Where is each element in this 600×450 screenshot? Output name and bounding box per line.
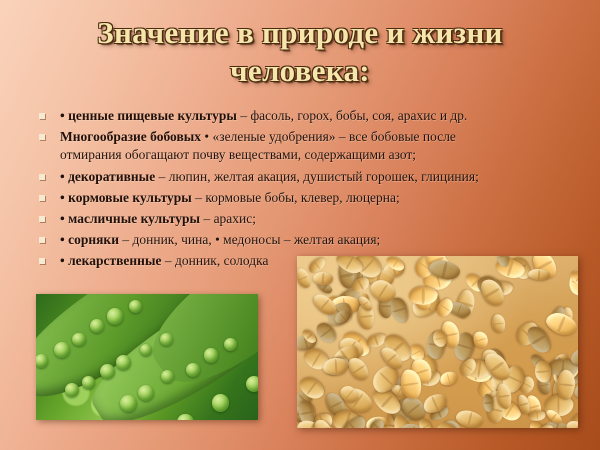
pea-seed <box>246 376 258 392</box>
square-bullet-icon <box>39 216 45 222</box>
pea-seed <box>82 376 95 389</box>
list-item-lead: • ценные пищевые культуры <box>60 108 237 123</box>
list-item-text: • лекарственные – донник, солодка <box>60 253 268 268</box>
pea-seed <box>107 308 124 325</box>
list-item-rest: • «зеленые удобрения» – все бобовые посл… <box>201 129 456 144</box>
list-item: • декоративные – люпин, желтая акация, д… <box>34 167 582 186</box>
slide-title: Значение в природе и жизни человека: <box>0 14 600 90</box>
pea-seed <box>212 394 230 412</box>
pea-seed <box>100 364 115 379</box>
pea-seed <box>116 355 131 370</box>
list-item-text: • масличные культуры – арахис; <box>60 211 256 226</box>
pea-seed <box>65 383 79 397</box>
list-item: • ценные пищевые культуры – фасоль, горо… <box>34 106 582 125</box>
square-bullet-icon <box>39 113 45 119</box>
list-item-rest: – донник, солодка <box>162 253 269 268</box>
list-item-lead: • декоративные <box>60 169 155 184</box>
list-item-rest: – кормовые бобы, клевер, люцерна; <box>192 190 400 205</box>
pea-seed <box>224 338 237 351</box>
bullet-list: • ценные пищевые культуры – фасоль, горо… <box>34 106 582 272</box>
peanut-kernel <box>409 286 438 304</box>
list-item-text: • декоративные – люпин, желтая акация, д… <box>60 169 479 184</box>
list-item-text: • кормовые культуры – кормовые бобы, кле… <box>60 190 400 205</box>
pea-seed <box>160 333 173 346</box>
list-item: • сорняки – донник, чина, • медоносы – ж… <box>34 230 582 249</box>
list-item-rest: – донник, чина, • медоносы – желтая акац… <box>119 232 380 247</box>
list-item-text: • ценные пищевые культуры – фасоль, горо… <box>60 108 467 123</box>
list-item-rest: – арахис; <box>200 211 256 226</box>
list-item-lead: • масличные культуры <box>60 211 200 226</box>
list-item-lead: • сорняки <box>60 232 119 247</box>
green-pea-pods-photo <box>36 294 258 420</box>
square-bullet-icon <box>39 174 45 180</box>
peanuts-photo <box>297 256 578 428</box>
list-item-rest: – фасоль, горох, бобы, соя, арахис и др. <box>237 108 467 123</box>
list-item: • кормовые культуры – кормовые бобы, кле… <box>34 188 582 207</box>
list-item-lead: Многообразие бобовых <box>60 129 201 144</box>
pea-seed <box>120 395 137 412</box>
square-bullet-icon <box>39 237 45 243</box>
pea-seed <box>138 385 154 401</box>
list-item-lead: • лекарственные <box>60 253 162 268</box>
square-bullet-icon <box>39 134 45 140</box>
list-item: • масличные культуры – арахис; <box>34 209 582 228</box>
square-bullet-icon <box>39 195 45 201</box>
list-item-text: Многообразие бобовых • «зеленые удобрени… <box>60 129 456 144</box>
presentation-slide: Значение в природе и жизни человека: • ц… <box>0 0 600 450</box>
list-item-lead: • кормовые культуры <box>60 190 192 205</box>
list-item-continuation: отмирания обогащают почву веществами, со… <box>60 147 416 162</box>
pea-seed <box>204 348 218 362</box>
square-bullet-icon <box>39 258 45 264</box>
list-item-rest: – люпин, желтая акация, душистый горошек… <box>155 169 479 184</box>
list-item: Многообразие бобовых • «зеленые удобрени… <box>34 127 582 164</box>
list-item-text: • сорняки – донник, чина, • медоносы – ж… <box>60 232 380 247</box>
